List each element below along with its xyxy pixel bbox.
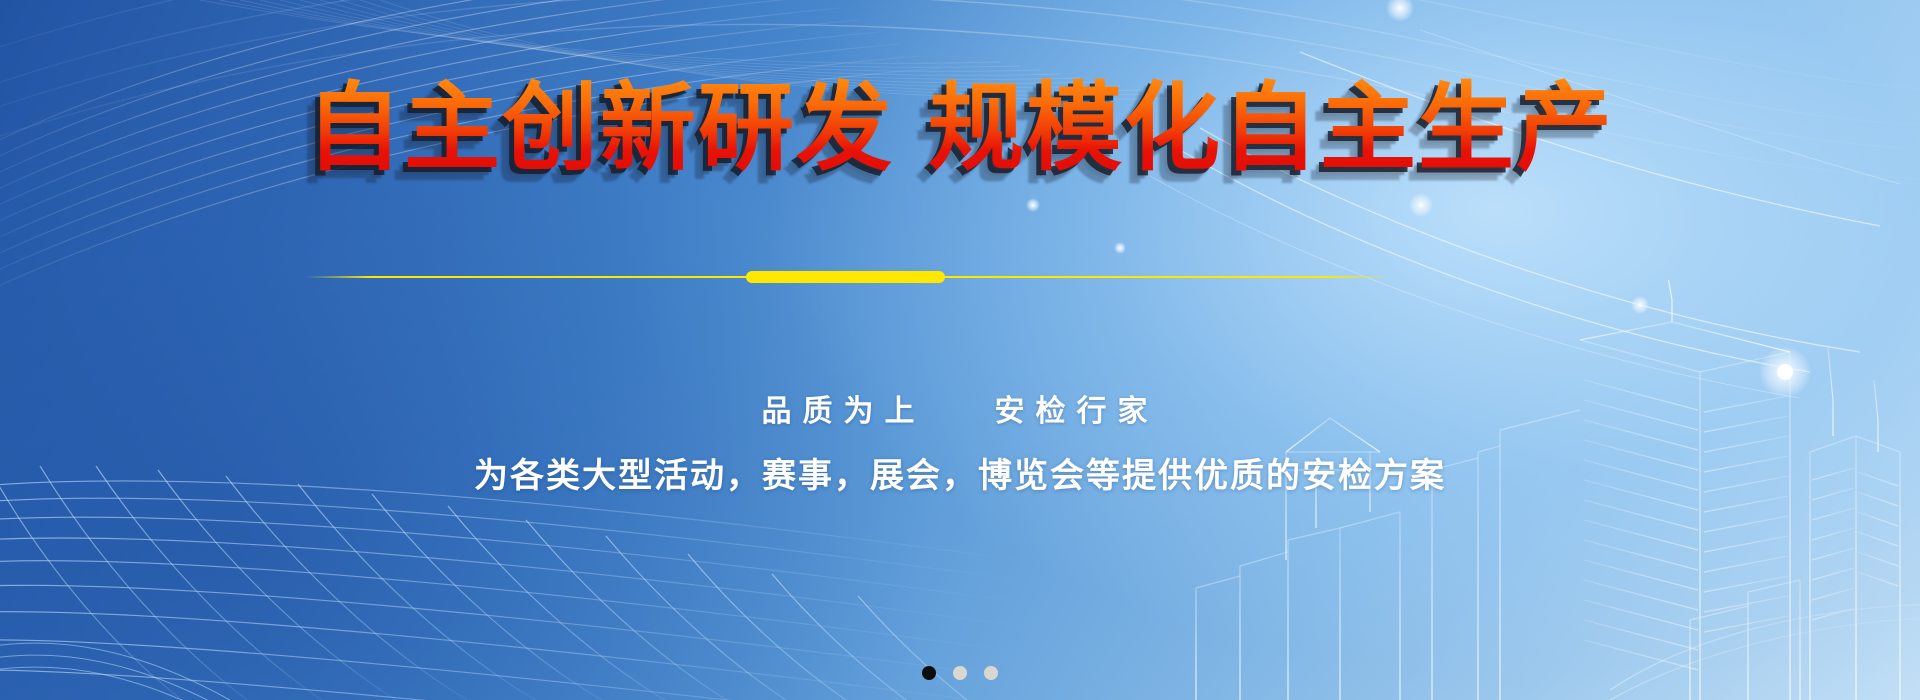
main-title: 自主创新研发规模化自主生产 xyxy=(306,78,1614,179)
carousel-dot-1[interactable] xyxy=(922,666,936,680)
main-title-part1: 自主创新研发 xyxy=(306,72,894,184)
carousel-dots[interactable] xyxy=(0,666,1920,680)
subtitle-primary-left: 品质为上 xyxy=(762,394,926,429)
main-title-wrap: 自主创新研发规模化自主生产 xyxy=(0,78,1920,179)
subtitle-primary-right: 安检行家 xyxy=(994,394,1158,429)
banner-content: 自主创新研发规模化自主生产 品质为上 安检行家 为各类大型活动，赛事，展会，博览… xyxy=(0,0,1920,700)
yellow-divider xyxy=(306,271,1391,283)
subtitle-secondary: 为各类大型活动，赛事，展会，博览会等提供优质的安检方案 xyxy=(0,448,1920,497)
subtitle-primary: 品质为上 安检行家 xyxy=(0,386,1920,430)
carousel-dot-2[interactable] xyxy=(953,666,967,680)
carousel-dot-3[interactable] xyxy=(984,666,998,680)
hero-banner: 自主创新研发规模化自主生产 品质为上 安检行家 为各类大型活动，赛事，展会，博览… xyxy=(0,0,1920,700)
divider-thick-segment xyxy=(746,271,945,283)
main-title-part2: 规模化自主生产 xyxy=(928,72,1614,184)
